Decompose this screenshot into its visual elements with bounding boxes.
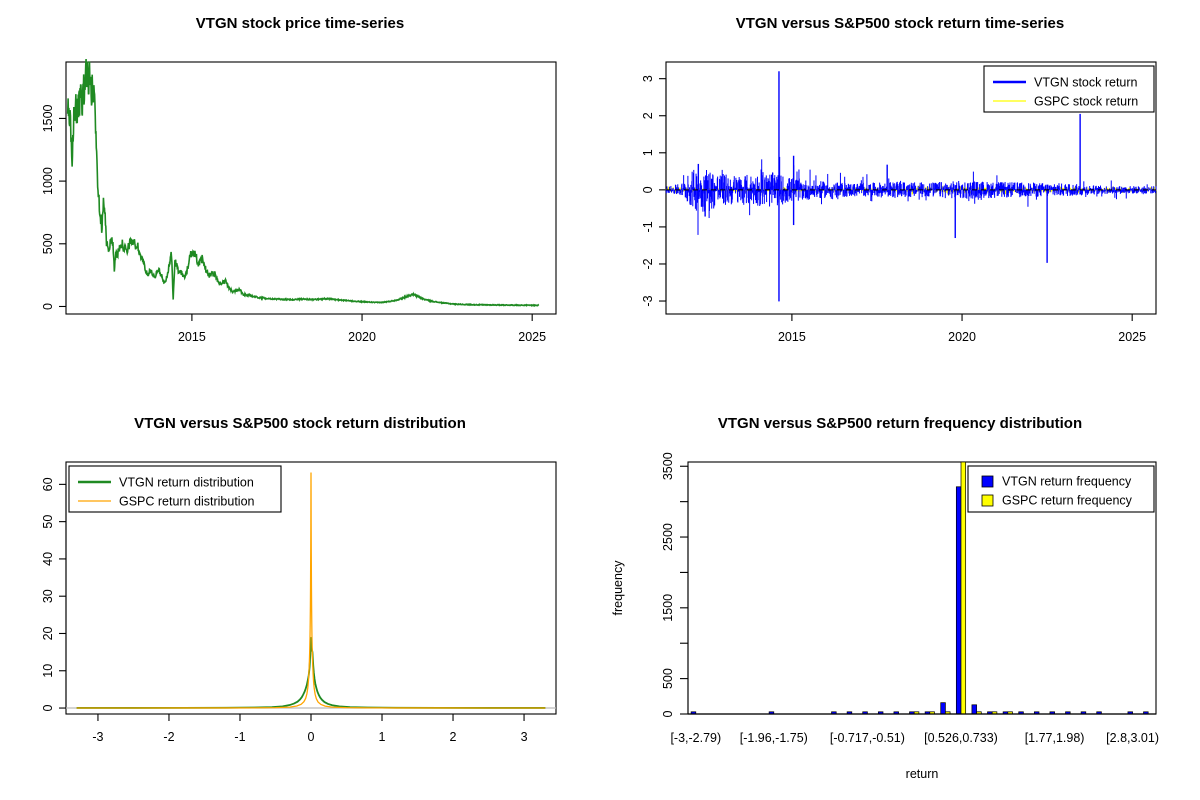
axis-tick-label: 40 <box>41 552 55 566</box>
axis-tick-label: 1500 <box>661 594 675 622</box>
legend[interactable]: VTGN stock returnGSPC stock return <box>984 66 1154 112</box>
axis-tick-label: 1 <box>641 149 655 156</box>
axis-tick-label: 2025 <box>518 330 546 344</box>
axis-tick-label: [-1.96,-1.75) <box>740 731 808 745</box>
legend-label[interactable]: VTGN return frequency <box>1002 475 1132 489</box>
axis-tick-label: 2020 <box>348 330 376 344</box>
panel-title: VTGN versus S&P500 stock return time-ser… <box>736 15 1064 32</box>
axis-tick-label: 2500 <box>661 523 675 551</box>
panel-price-series: VTGN stock price time-series 20152020202… <box>0 0 600 400</box>
axis-tick-label: 2 <box>641 112 655 119</box>
panel-return-series: VTGN versus S&P500 stock return time-ser… <box>600 0 1200 400</box>
plot-area: 0500150025003500[-3,-2.79)[-1.96,-1.75)[… <box>661 452 1159 745</box>
plot-area: 201520202025050010001500 <box>41 59 556 344</box>
axis-tick-label: 500 <box>41 233 55 254</box>
frequency-bar <box>961 462 966 714</box>
legend[interactable]: VTGN return frequencyGSPC return frequen… <box>968 466 1154 512</box>
return-series-svg: VTGN versus S&P500 stock return time-ser… <box>600 0 1200 400</box>
frequency-bar <box>972 705 977 714</box>
frequency-bar <box>941 703 946 714</box>
axis-tick-label: 1 <box>379 730 386 744</box>
price-line <box>68 59 539 306</box>
axis-tick-label: 2020 <box>948 330 976 344</box>
panel-title: VTGN versus S&P500 return frequency dist… <box>718 415 1082 432</box>
plot-area: -3-2-101230102030405060 VTGN return dist… <box>41 462 556 744</box>
axes: 201520202025-3-2-10123 <box>641 75 1146 344</box>
axis-tick-label: -3 <box>641 295 655 306</box>
legend-swatch <box>982 495 993 506</box>
axis-tick-label: [0.526,0.733) <box>924 731 998 745</box>
return-frequency-svg: VTGN versus S&P500 return frequency dist… <box>600 400 1200 800</box>
x-axis-title: return <box>906 767 939 781</box>
axis-tick-label: [-3,-2.79) <box>670 731 721 745</box>
axis-tick-label: 60 <box>41 477 55 491</box>
figure-grid: VTGN stock price time-series 20152020202… <box>0 0 1200 800</box>
legend[interactable]: VTGN return distributionGSPC return dist… <box>69 466 281 512</box>
plot-box <box>66 62 556 314</box>
axis-tick-label: 3 <box>521 730 528 744</box>
axis-tick-label: 1000 <box>41 167 55 195</box>
legend-label[interactable]: VTGN return distribution <box>119 476 254 490</box>
panel-title: VTGN versus S&P500 stock return distribu… <box>134 415 466 432</box>
plot-area: 201520202025-3-2-10123 VTGN stock return… <box>641 62 1156 344</box>
axis-tick-label: 0 <box>641 186 655 193</box>
axis-tick-label: [2.8,3.01) <box>1106 731 1159 745</box>
axis-tick-label: 0 <box>308 730 315 744</box>
y-axis-title: frequency <box>611 560 625 616</box>
axis-tick-label: 0 <box>41 705 55 712</box>
axis-tick-label: 0 <box>41 303 55 310</box>
data-layer <box>68 59 539 306</box>
axis-tick-label: 2 <box>450 730 457 744</box>
axes: -3-2-101230102030405060 <box>41 477 528 744</box>
axis-tick-label: 10 <box>41 664 55 678</box>
axis-tick-label: 0 <box>661 710 675 717</box>
legend-label[interactable]: GSPC return distribution <box>119 495 255 509</box>
axis-tick-label: -1 <box>641 221 655 232</box>
vtgn-density-curve <box>77 637 546 708</box>
axis-tick-label: 3 <box>641 75 655 82</box>
panel-return-frequency: VTGN versus S&P500 return frequency dist… <box>600 400 1200 800</box>
legend-label[interactable]: GSPC stock return <box>1034 95 1138 109</box>
axis-tick-label: [-0.717,-0.51) <box>830 731 905 745</box>
axis-tick-label: 30 <box>41 589 55 603</box>
legend-label[interactable]: GSPC return frequency <box>1002 494 1133 508</box>
axis-tick-label: 2025 <box>1118 330 1146 344</box>
axis-tick-label: 20 <box>41 626 55 640</box>
axis-tick-label: 1500 <box>41 104 55 132</box>
axis-tick-label: [1.77,1.98) <box>1025 731 1085 745</box>
panel-return-distribution: VTGN versus S&P500 stock return distribu… <box>0 400 600 800</box>
axis-tick-label: -2 <box>163 730 174 744</box>
axis-tick-label: -1 <box>234 730 245 744</box>
axis-tick-label: 500 <box>661 668 675 689</box>
legend-swatch <box>982 476 993 487</box>
axis-tick-label: -2 <box>641 258 655 269</box>
axis-tick-label: 50 <box>41 515 55 529</box>
panel-title: VTGN stock price time-series <box>196 15 404 32</box>
axis-tick-label: -3 <box>92 730 103 744</box>
axes: 201520202025050010001500 <box>41 104 546 344</box>
legend-label[interactable]: VTGN stock return <box>1034 76 1138 90</box>
axis-tick-label: 2015 <box>178 330 206 344</box>
frequency-bar <box>956 487 961 714</box>
price-series-svg: VTGN stock price time-series 20152020202… <box>0 0 600 400</box>
axis-tick-label: 2015 <box>778 330 806 344</box>
axis-tick-label: 3500 <box>661 452 675 480</box>
return-distribution-svg: VTGN versus S&P500 stock return distribu… <box>0 400 600 800</box>
